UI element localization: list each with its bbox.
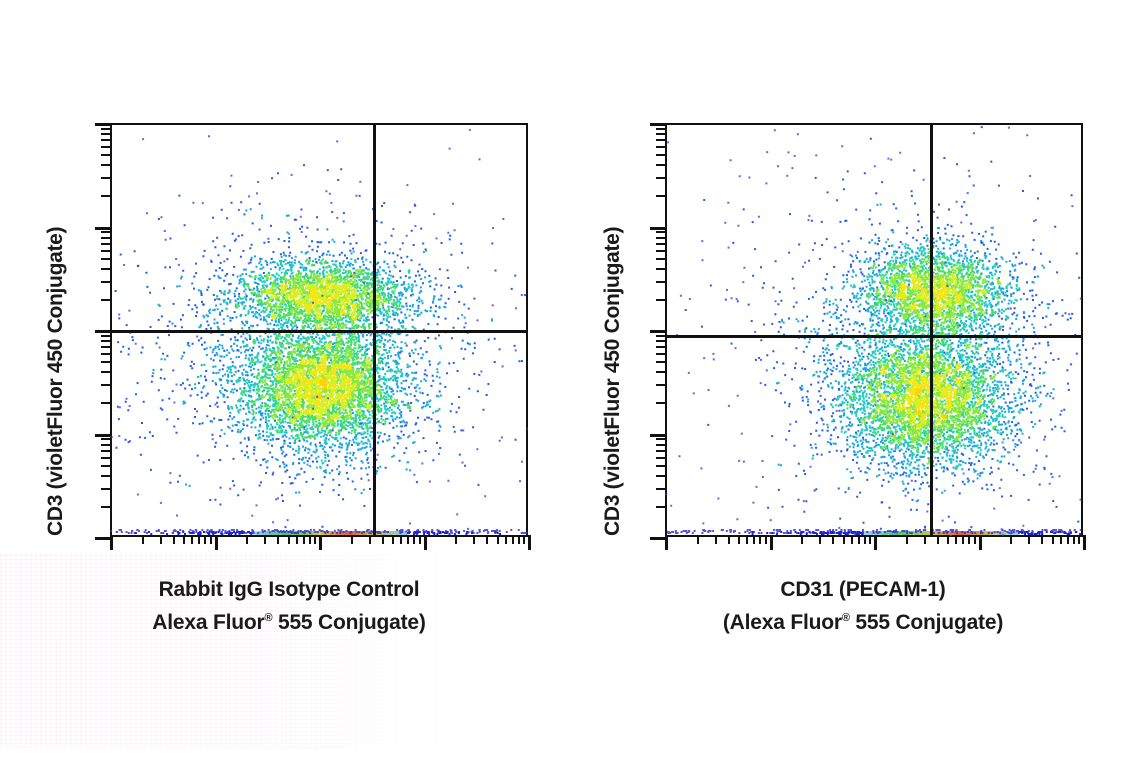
x-tick-minor bbox=[382, 535, 384, 544]
panel-cd31: CD3 (violetFluor 450 Conjugate) CD31 (PE… bbox=[578, 0, 1141, 768]
y-tick-minor bbox=[101, 384, 110, 386]
y-tick-minor bbox=[656, 450, 665, 452]
quadrant-gate-horizontal-left[interactable] bbox=[110, 330, 528, 333]
x-tick-minor bbox=[246, 535, 248, 544]
x-tick-minor bbox=[851, 535, 853, 544]
x-tick-minor bbox=[288, 535, 290, 544]
y-tick-minor bbox=[656, 177, 665, 179]
x-tick-minor bbox=[801, 535, 803, 544]
x-tick-minor bbox=[974, 535, 976, 544]
y-tick-minor bbox=[101, 154, 110, 156]
registered-mark-right: ® bbox=[842, 612, 850, 624]
x-tick-minor bbox=[198, 535, 200, 544]
x-tick-minor bbox=[264, 535, 266, 544]
dot-plot-canvas-right bbox=[665, 123, 1083, 537]
x-tick-minor bbox=[864, 535, 866, 544]
x-tick-minor bbox=[455, 535, 457, 544]
x-tick-minor bbox=[1060, 535, 1062, 544]
y-tick-minor bbox=[656, 128, 665, 130]
y-tick-minor bbox=[101, 268, 110, 270]
y-tick-major bbox=[95, 330, 110, 333]
y-tick-major bbox=[650, 123, 665, 126]
x-tick-minor bbox=[160, 535, 162, 544]
x-tick-minor bbox=[738, 535, 740, 544]
x-tick-minor bbox=[351, 535, 353, 544]
plot-area-left[interactable] bbox=[110, 123, 528, 537]
y-tick-minor bbox=[656, 475, 665, 477]
y-tick-minor bbox=[656, 139, 665, 141]
y-tick-minor bbox=[101, 450, 110, 452]
x-tick-minor bbox=[518, 535, 520, 544]
y-tick-minor bbox=[656, 154, 665, 156]
y-axis-title-left: CD3 (violetFluor 450 Conjugate) bbox=[44, 227, 68, 536]
caption-fluor-post-right: 555 Conjugate) bbox=[850, 611, 1003, 634]
panel-isotype-control: CD3 (violetFluor 450 Conjugate) Rabbit I… bbox=[0, 0, 578, 768]
x-tick-minor bbox=[968, 535, 970, 544]
x-tick-minor bbox=[843, 535, 845, 544]
y-tick-minor bbox=[656, 444, 665, 446]
y-tick-minor bbox=[101, 133, 110, 135]
y-tick-minor bbox=[101, 353, 110, 355]
panel-caption-right: CD31 (PECAM-1) (Alexa Fluor® 555 Conjuga… bbox=[613, 575, 1113, 637]
x-tick-minor bbox=[1073, 535, 1075, 544]
caption-line-1-right: CD31 (PECAM-1) bbox=[780, 578, 945, 601]
x-tick-minor bbox=[277, 535, 279, 544]
y-tick-minor bbox=[656, 457, 665, 459]
x-tick-minor bbox=[314, 535, 316, 544]
x-tick-minor bbox=[392, 535, 394, 544]
y-tick-minor bbox=[101, 243, 110, 245]
x-tick-minor bbox=[869, 535, 871, 544]
y-tick-minor bbox=[656, 250, 665, 252]
y-axis-title-right: CD3 (violetFluor 450 Conjugate) bbox=[601, 227, 625, 536]
x-tick-major bbox=[528, 535, 531, 550]
y-tick-minor bbox=[101, 335, 110, 337]
x-tick-minor bbox=[473, 535, 475, 544]
y-tick-minor bbox=[656, 268, 665, 270]
y-tick-minor bbox=[101, 231, 110, 233]
x-tick-major bbox=[424, 535, 427, 550]
y-tick-minor bbox=[656, 361, 665, 363]
y-tick-minor bbox=[101, 281, 110, 283]
y-tick-minor bbox=[101, 299, 110, 301]
caption-fluor-post-left: 555 Conjugate) bbox=[272, 611, 425, 634]
y-tick-minor bbox=[101, 371, 110, 373]
quadrant-gate-horizontal-right[interactable] bbox=[665, 335, 1083, 338]
x-tick-minor bbox=[191, 535, 193, 544]
x-tick-minor bbox=[486, 535, 488, 544]
y-tick-minor bbox=[656, 506, 665, 508]
caption-line-2-left: Alexa Fluor® 555 Conjugate) bbox=[39, 604, 539, 637]
x-tick-minor bbox=[1078, 535, 1080, 544]
y-tick-minor bbox=[656, 384, 665, 386]
x-tick-minor bbox=[746, 535, 748, 544]
y-tick-minor bbox=[101, 346, 110, 348]
x-tick-minor bbox=[753, 535, 755, 544]
x-tick-major bbox=[665, 535, 668, 550]
y-tick-minor bbox=[656, 243, 665, 245]
x-tick-minor bbox=[962, 535, 964, 544]
y-tick-minor bbox=[656, 195, 665, 197]
x-tick-minor bbox=[303, 535, 305, 544]
x-tick-minor bbox=[210, 535, 212, 544]
x-tick-minor bbox=[759, 535, 761, 544]
caption-fluor-pre-right: (Alexa Fluor bbox=[723, 611, 842, 634]
y-tick-minor bbox=[656, 258, 665, 260]
y-tick-minor bbox=[656, 353, 665, 355]
x-tick-major bbox=[1083, 535, 1086, 550]
x-tick-minor bbox=[400, 535, 402, 544]
x-tick-minor bbox=[183, 535, 185, 544]
x-tick-minor bbox=[419, 535, 421, 544]
y-tick-minor bbox=[101, 438, 110, 440]
y-tick-minor bbox=[656, 237, 665, 239]
y-tick-minor bbox=[656, 438, 665, 440]
y-tick-minor bbox=[101, 195, 110, 197]
x-tick-minor bbox=[407, 535, 409, 544]
y-tick-minor bbox=[656, 231, 665, 233]
y-tick-minor bbox=[656, 164, 665, 166]
y-tick-major bbox=[95, 434, 110, 437]
x-tick-minor bbox=[765, 535, 767, 544]
y-tick-minor bbox=[656, 402, 665, 404]
x-tick-minor bbox=[512, 535, 514, 544]
x-tick-minor bbox=[947, 535, 949, 544]
x-tick-minor bbox=[937, 535, 939, 544]
y-tick-minor bbox=[101, 361, 110, 363]
y-tick-minor bbox=[656, 340, 665, 342]
y-tick-major bbox=[650, 330, 665, 333]
x-tick-minor bbox=[906, 535, 908, 544]
y-tick-major bbox=[650, 434, 665, 437]
y-tick-minor bbox=[101, 444, 110, 446]
x-tick-minor bbox=[523, 535, 525, 544]
y-tick-minor bbox=[656, 488, 665, 490]
caption-fluor-pre-left: Alexa Fluor bbox=[152, 611, 264, 634]
x-tick-major bbox=[110, 535, 113, 550]
y-tick-minor bbox=[101, 146, 110, 148]
quadrant-gate-vertical-right[interactable] bbox=[930, 123, 933, 537]
y-tick-major bbox=[95, 537, 110, 540]
x-tick-major bbox=[770, 535, 773, 550]
x-tick-minor bbox=[173, 535, 175, 544]
y-tick-minor bbox=[101, 457, 110, 459]
y-tick-minor bbox=[101, 258, 110, 260]
x-tick-major bbox=[979, 535, 982, 550]
x-tick-minor bbox=[819, 535, 821, 544]
y-tick-major bbox=[95, 227, 110, 230]
x-tick-minor bbox=[1052, 535, 1054, 544]
x-tick-minor bbox=[309, 535, 311, 544]
y-tick-minor bbox=[101, 139, 110, 141]
flow-cytometry-figure: CD3 (violetFluor 450 Conjugate) Rabbit I… bbox=[0, 0, 1141, 768]
x-tick-minor bbox=[1028, 535, 1030, 544]
y-tick-minor bbox=[101, 177, 110, 179]
caption-line-2-right: (Alexa Fluor® 555 Conjugate) bbox=[613, 604, 1113, 637]
x-tick-minor bbox=[1067, 535, 1069, 544]
y-tick-minor bbox=[101, 402, 110, 404]
y-tick-minor bbox=[656, 371, 665, 373]
x-tick-major bbox=[215, 535, 218, 550]
x-tick-minor bbox=[1041, 535, 1043, 544]
y-tick-minor bbox=[656, 146, 665, 148]
caption-line-1-left: Rabbit IgG Isotype Control bbox=[159, 578, 420, 601]
y-tick-minor bbox=[656, 133, 665, 135]
x-tick-minor bbox=[505, 535, 507, 544]
y-tick-minor bbox=[656, 465, 665, 467]
y-tick-minor bbox=[101, 488, 110, 490]
y-tick-minor bbox=[656, 299, 665, 301]
x-tick-major bbox=[319, 535, 322, 550]
x-tick-minor bbox=[296, 535, 298, 544]
y-tick-minor bbox=[656, 335, 665, 337]
x-tick-minor bbox=[924, 535, 926, 544]
y-tick-minor bbox=[101, 237, 110, 239]
x-tick-minor bbox=[1010, 535, 1012, 544]
y-tick-minor bbox=[101, 164, 110, 166]
x-tick-minor bbox=[204, 535, 206, 544]
y-tick-minor bbox=[101, 506, 110, 508]
y-tick-minor bbox=[656, 346, 665, 348]
y-tick-major bbox=[650, 537, 665, 540]
x-tick-minor bbox=[715, 535, 717, 544]
x-tick-minor bbox=[413, 535, 415, 544]
y-tick-minor bbox=[101, 250, 110, 252]
x-tick-minor bbox=[832, 535, 834, 544]
y-tick-minor bbox=[101, 465, 110, 467]
y-tick-minor bbox=[656, 281, 665, 283]
x-tick-minor bbox=[955, 535, 957, 544]
panel-caption-left: Rabbit IgG Isotype Control Alexa Fluor® … bbox=[39, 575, 539, 637]
y-tick-major bbox=[95, 123, 110, 126]
x-tick-minor bbox=[369, 535, 371, 544]
y-tick-major bbox=[650, 227, 665, 230]
x-tick-minor bbox=[697, 535, 699, 544]
x-tick-minor bbox=[142, 535, 144, 544]
x-tick-minor bbox=[858, 535, 860, 544]
plot-area-right[interactable] bbox=[665, 123, 1083, 537]
x-tick-major bbox=[874, 535, 877, 550]
y-tick-minor bbox=[101, 475, 110, 477]
x-tick-minor bbox=[728, 535, 730, 544]
x-tick-minor bbox=[497, 535, 499, 544]
y-tick-minor bbox=[101, 128, 110, 130]
y-tick-minor bbox=[101, 340, 110, 342]
